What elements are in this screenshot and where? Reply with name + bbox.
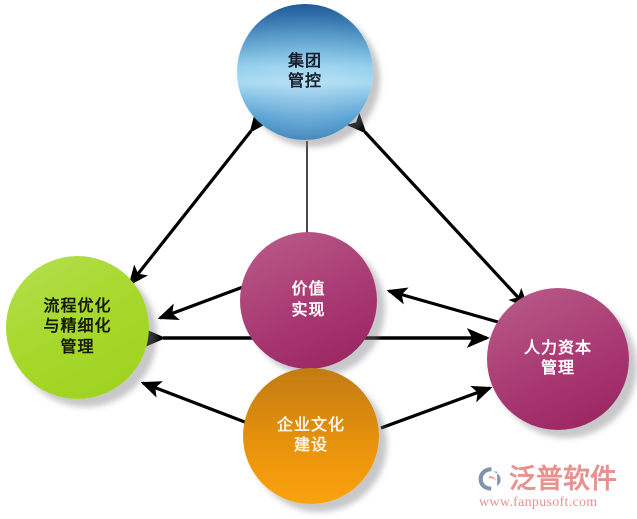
watermark-url-text: www.fanpusoft.com: [479, 495, 598, 511]
fanpu-swoosh-logo-icon: [477, 465, 507, 493]
edge-culture-human: [381, 388, 490, 428]
node-process-optimization[interactable]: 流程优化 与精细化 管理: [6, 256, 149, 399]
edge-control-human: [365, 132, 527, 307]
node-corporate-culture[interactable]: 企业文化 建设: [243, 368, 379, 504]
diagram-canvas: 集团 管控 流程优化 与精细化 管理 价值 实现 人力资本 管理 企业文化 建设…: [0, 0, 637, 519]
node-value-realization[interactable]: 价值 实现: [240, 232, 377, 369]
node-value-realization-label: 价值 实现: [240, 280, 377, 321]
watermark-brand-text: 泛普软件: [509, 466, 617, 493]
edge-value-human: [389, 291, 498, 322]
watermark-logo-row: 泛普软件: [477, 465, 617, 493]
node-group-control[interactable]: 集团 管控: [237, 4, 373, 140]
node-corporate-culture-label: 企业文化 建设: [243, 416, 379, 457]
watermark: 泛普软件 www.fanpusoft.com: [477, 465, 629, 511]
node-group-control-label: 集团 管控: [237, 52, 373, 93]
node-human-capital[interactable]: 人力资本 管理: [487, 288, 629, 430]
edge-culture-process: [143, 383, 250, 424]
node-human-capital-label: 人力资本 管理: [487, 339, 629, 380]
edge-control-process: [130, 131, 251, 284]
node-process-optimization-label: 流程优化 与精细化 管理: [6, 297, 149, 358]
edge-value-process: [160, 287, 243, 318]
